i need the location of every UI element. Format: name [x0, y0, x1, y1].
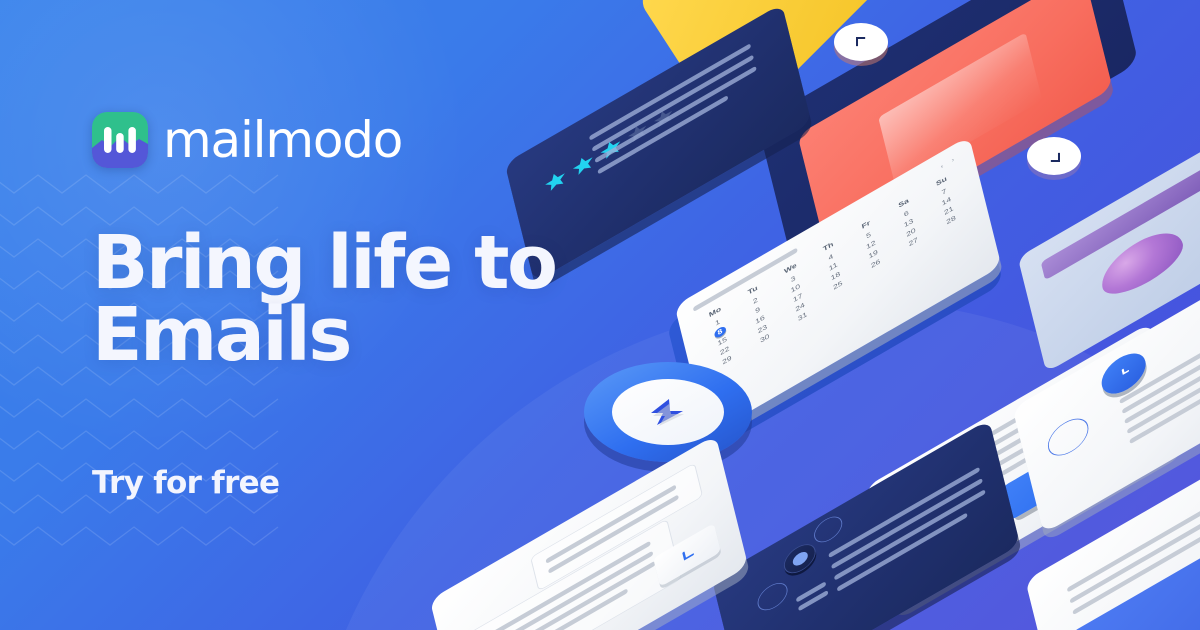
radio-option-1[interactable] [755, 577, 790, 615]
marketing-banner: ‹ › Mo Tu We Th Fr Sa Su 123456789101112… [0, 0, 1200, 630]
calendar-next-button[interactable]: › [951, 155, 957, 163]
crop-handle-top-left[interactable] [834, 23, 888, 61]
lightning-bolt-icon [639, 392, 697, 432]
brand-name: mailmodo [163, 115, 402, 165]
disc-inner-face [612, 379, 724, 445]
clock-icon [1112, 361, 1134, 386]
mailmodo-bars-logo-icon [92, 112, 148, 168]
radio-option-2-selected[interactable] [781, 538, 818, 579]
text-line [592, 55, 754, 152]
text-line [595, 66, 757, 163]
calendar-prev-button[interactable]: ‹ [940, 161, 946, 169]
clock-button[interactable] [1098, 345, 1149, 401]
try-for-free-cta[interactable]: Try for free [92, 465, 279, 501]
cursor-click-icon [676, 543, 698, 568]
radio-dot [791, 549, 808, 568]
text-line [831, 478, 983, 569]
radio-poll-card [712, 419, 1020, 630]
brand-logo[interactable]: mailmodo [92, 112, 402, 168]
text-line [834, 489, 986, 580]
corner-bracket-icon [1049, 151, 1060, 162]
crop-handle-bottom-right[interactable] [1027, 137, 1081, 175]
page-title: Bring life to Emails [92, 228, 556, 372]
corner-bracket-icon [856, 37, 867, 48]
text-line [589, 43, 751, 140]
hero-content: mailmodo Bring life to Emails Try for fr… [92, 0, 612, 630]
text-line [828, 467, 980, 558]
radio-option-3[interactable] [812, 511, 845, 547]
empty-circle-option[interactable] [1045, 411, 1092, 463]
